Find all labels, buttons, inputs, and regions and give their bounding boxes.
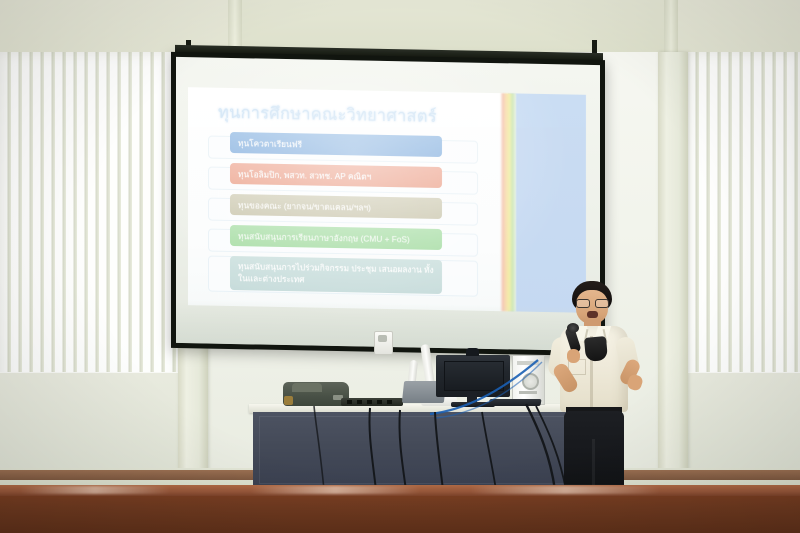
slide-bullet-4: ทุนสนับสนุนการเรียนภาษาอังกฤษ (CMU + FoS… <box>230 225 442 250</box>
slide-bullet-row: ทุนของคณะ (ยากจน/ขาดแคลน/ฯลฯ) <box>208 194 508 227</box>
slide-title: ทุนการศึกษาคณะวิทยาศาสตร์ <box>218 100 518 132</box>
presenter-left-hand <box>567 349 580 363</box>
presenter-mouth <box>587 311 598 318</box>
slide-bullet-row: ทุนสนับสนุนการเรียนภาษาอังกฤษ (CMU + FoS… <box>208 225 508 258</box>
slide-bullet-row: ทุนโอลิมปิก, พสวท. สวทช. AP คณิตฯ <box>208 163 508 196</box>
slide-bullet-row: ทุนโควตาเรียนฟรี <box>208 132 508 165</box>
presentation-photo-scene: ทุนการศึกษาคณะวิทยาศาสตร์ ทุนโควตาเรียนฟ… <box>0 0 800 533</box>
slide-bullet-2: ทุนโอลิมปิก, พสวท. สวทช. AP คณิตฯ <box>230 163 442 188</box>
slide-bullet-1: ทุนโควตาเรียนฟรี <box>230 132 442 157</box>
cable-bundle <box>250 352 580 492</box>
slide-bullet-5: ทุนสนับสนุนการไปร่วมกิจกรรม ประชุม เสนอผ… <box>230 256 442 294</box>
slide-bullet-row: ทุนสนับสนุนการไปร่วมกิจกรรม ประชุม เสนอผ… <box>208 256 508 302</box>
wall-column-right <box>658 52 688 484</box>
slide-side-panel <box>508 93 586 312</box>
projected-slide: ทุนการศึกษาคณะวิทยาศาสตร์ ทุนโควตาเรียนฟ… <box>188 87 586 313</box>
wall-panel-lower-right <box>688 372 800 482</box>
stage-highlight <box>470 486 660 494</box>
projection-screen-surface: ทุนการศึกษาคณะวิทยาศาสตร์ ทุนโควตาเรียนฟ… <box>176 57 600 351</box>
document-camera-lens <box>378 335 387 342</box>
presenter-trouser-seam <box>592 439 595 491</box>
microphone-head <box>567 323 579 333</box>
slide-bullet-list: ทุนโควตาเรียนฟรี ทุนโอลิมปิก, พสวท. สวทช… <box>208 132 508 306</box>
wall-panel-lower-left <box>0 372 178 482</box>
presenter-glasses <box>576 299 608 306</box>
stage-highlight <box>20 486 170 494</box>
slide-bullet-3: ทุนของคณะ (ยากจน/ขาดแคลน/ฯลฯ) <box>230 194 442 219</box>
stage-highlight <box>250 486 420 494</box>
presenter <box>540 281 652 493</box>
